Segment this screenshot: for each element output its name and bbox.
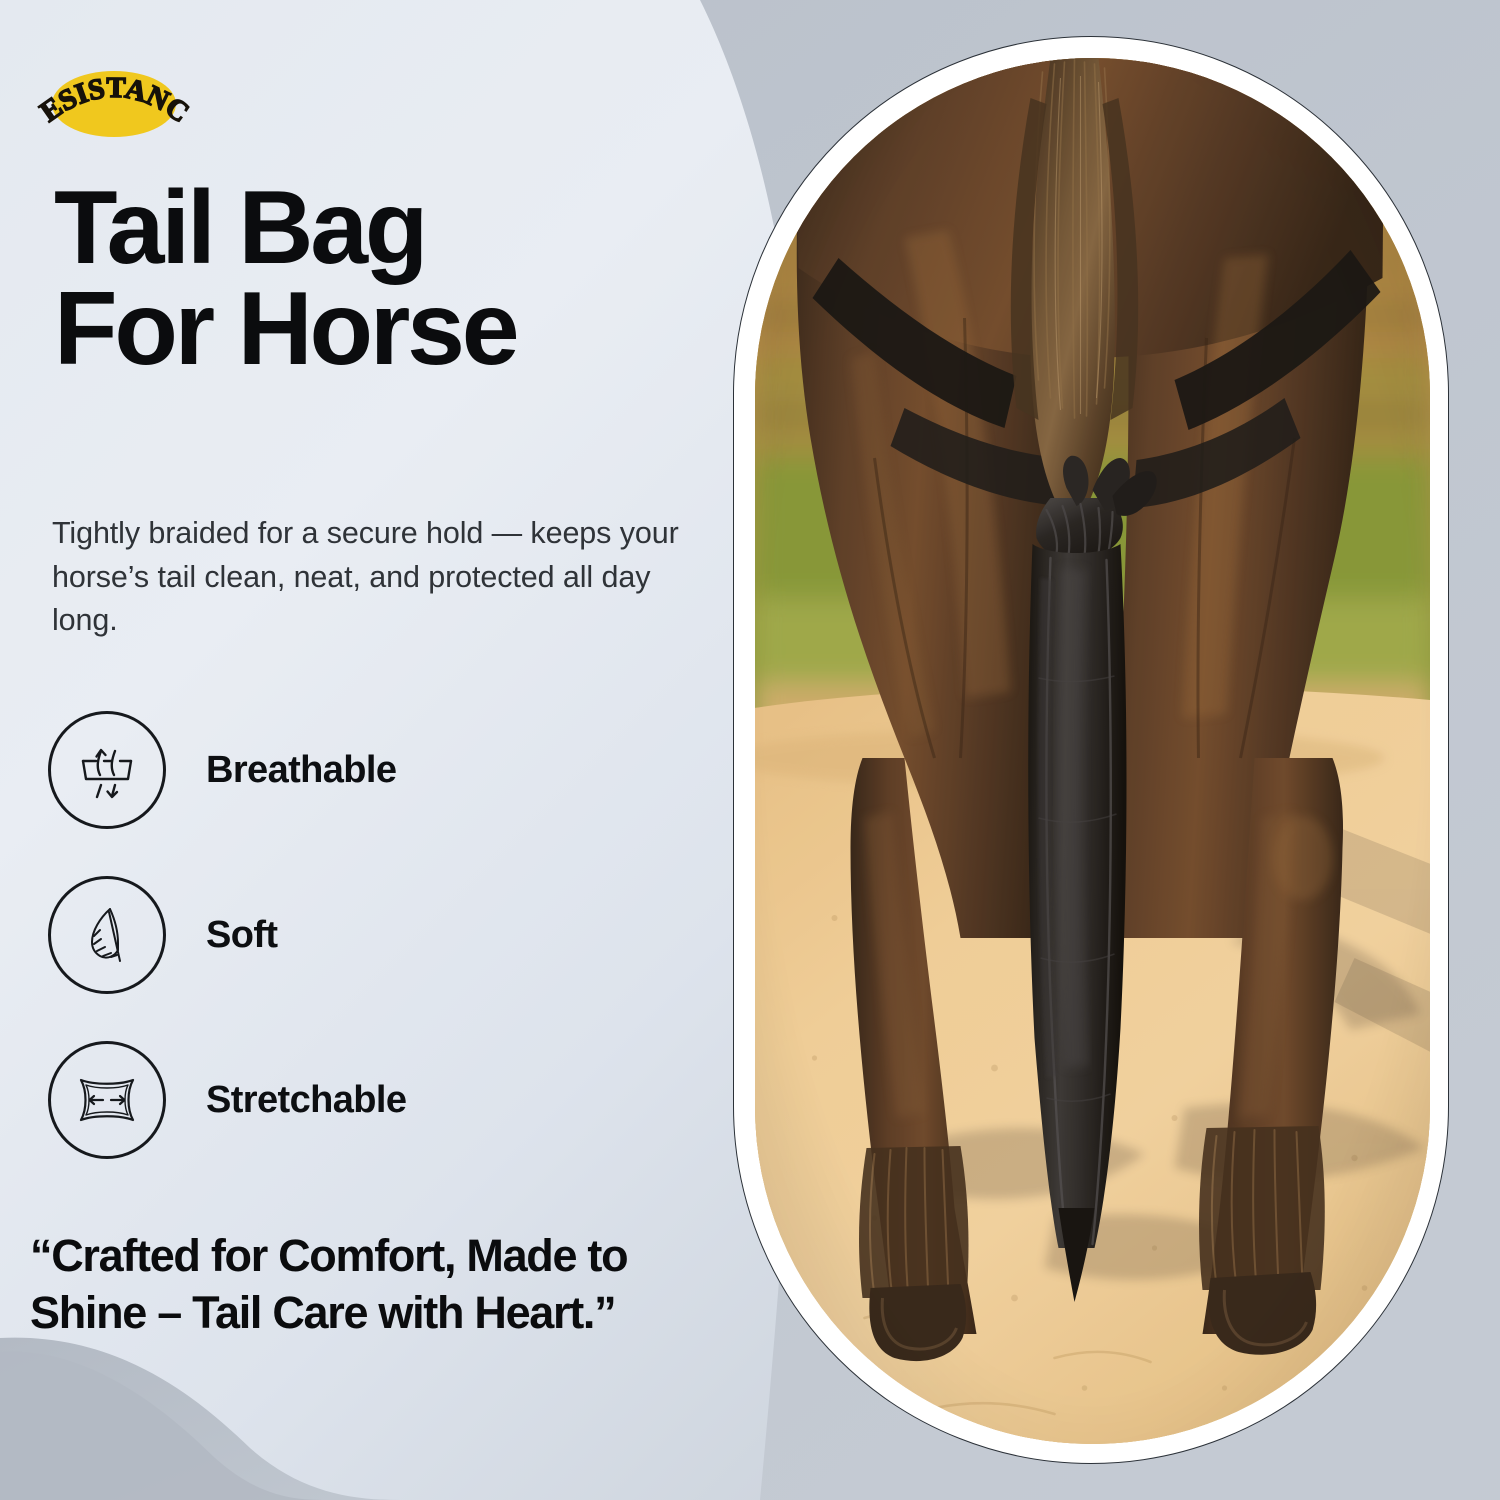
feature-label-stretchable: Stretchable (206, 1079, 406, 1122)
product-description: Tightly braided for a secure hold — keep… (52, 512, 692, 643)
feather-icon (48, 876, 166, 994)
tagline-line-1: “Crafted for Comfort, Made to (30, 1228, 750, 1285)
feature-label-breathable: Breathable (206, 749, 396, 792)
product-photo-frame (733, 36, 1449, 1464)
horse-tailbag-photo (755, 58, 1430, 1444)
feature-label-soft: Soft (206, 914, 277, 957)
page-title-line-2: For Horse (54, 279, 714, 380)
stretch-arrows-icon (48, 1041, 166, 1159)
page-title: Tail Bag For Horse (54, 178, 714, 380)
page-title-line-1: Tail Bag (54, 178, 714, 279)
tagline-line-2: Shine – Tail Care with Heart.” (30, 1285, 750, 1342)
feature-item-soft: Soft (48, 876, 688, 994)
marketing-tagline: “Crafted for Comfort, Made to Shine – Ta… (30, 1228, 750, 1341)
feature-list: Breathable Soft (48, 711, 688, 1206)
brand-logo: RESISTANCE (34, 66, 194, 142)
feature-item-stretchable: Stretchable (48, 1041, 688, 1159)
product-photo (755, 58, 1430, 1444)
breathable-airflow-icon (48, 711, 166, 829)
feature-item-breathable: Breathable (48, 711, 688, 829)
left-content-column: Tail Bag For Horse Tightly braided for a… (0, 0, 740, 1500)
